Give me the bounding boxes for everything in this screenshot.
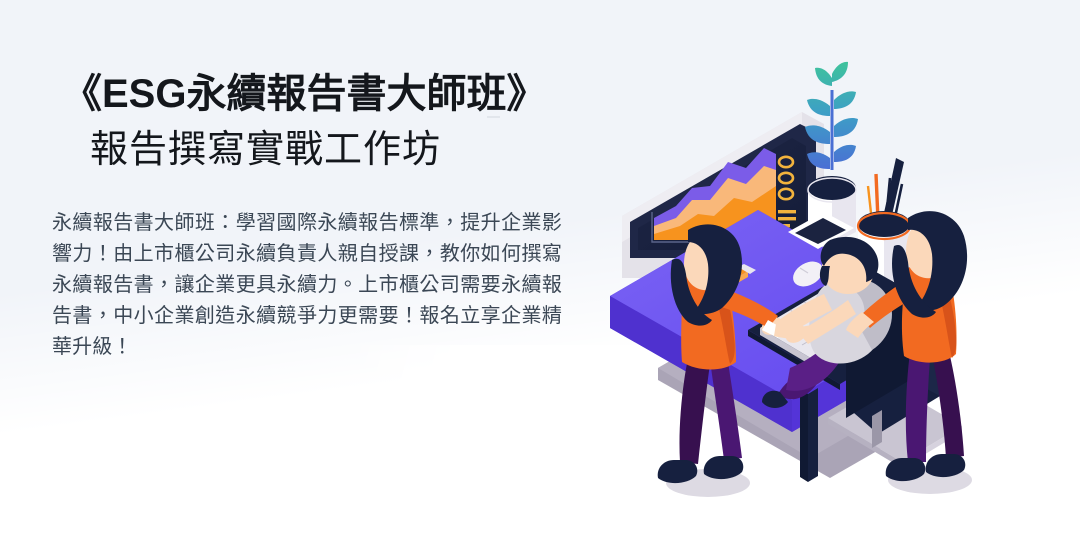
- banner-title-line1: 《ESG永續報告書大師班》: [62, 72, 546, 116]
- text-column: 《ESG永續報告書大師班》 報告撰寫實戰工作坊 永續報告書大師班：學習國際永續報…: [0, 0, 600, 540]
- isometric-office-illustration: [610, 28, 1080, 540]
- esg-promo-banner: 《ESG永續報告書大師班》 報告撰寫實戰工作坊 永續報告書大師班：學習國際永續報…: [0, 0, 1080, 540]
- compression-artifact: [487, 116, 500, 118]
- banner-body-text: 永續報告書大師班：學習國際永續報告標準，提升企業影響力！由上市櫃公司永續負責人親…: [52, 208, 562, 363]
- banner-title-line2: 報告撰寫實戰工作坊: [90, 130, 441, 172]
